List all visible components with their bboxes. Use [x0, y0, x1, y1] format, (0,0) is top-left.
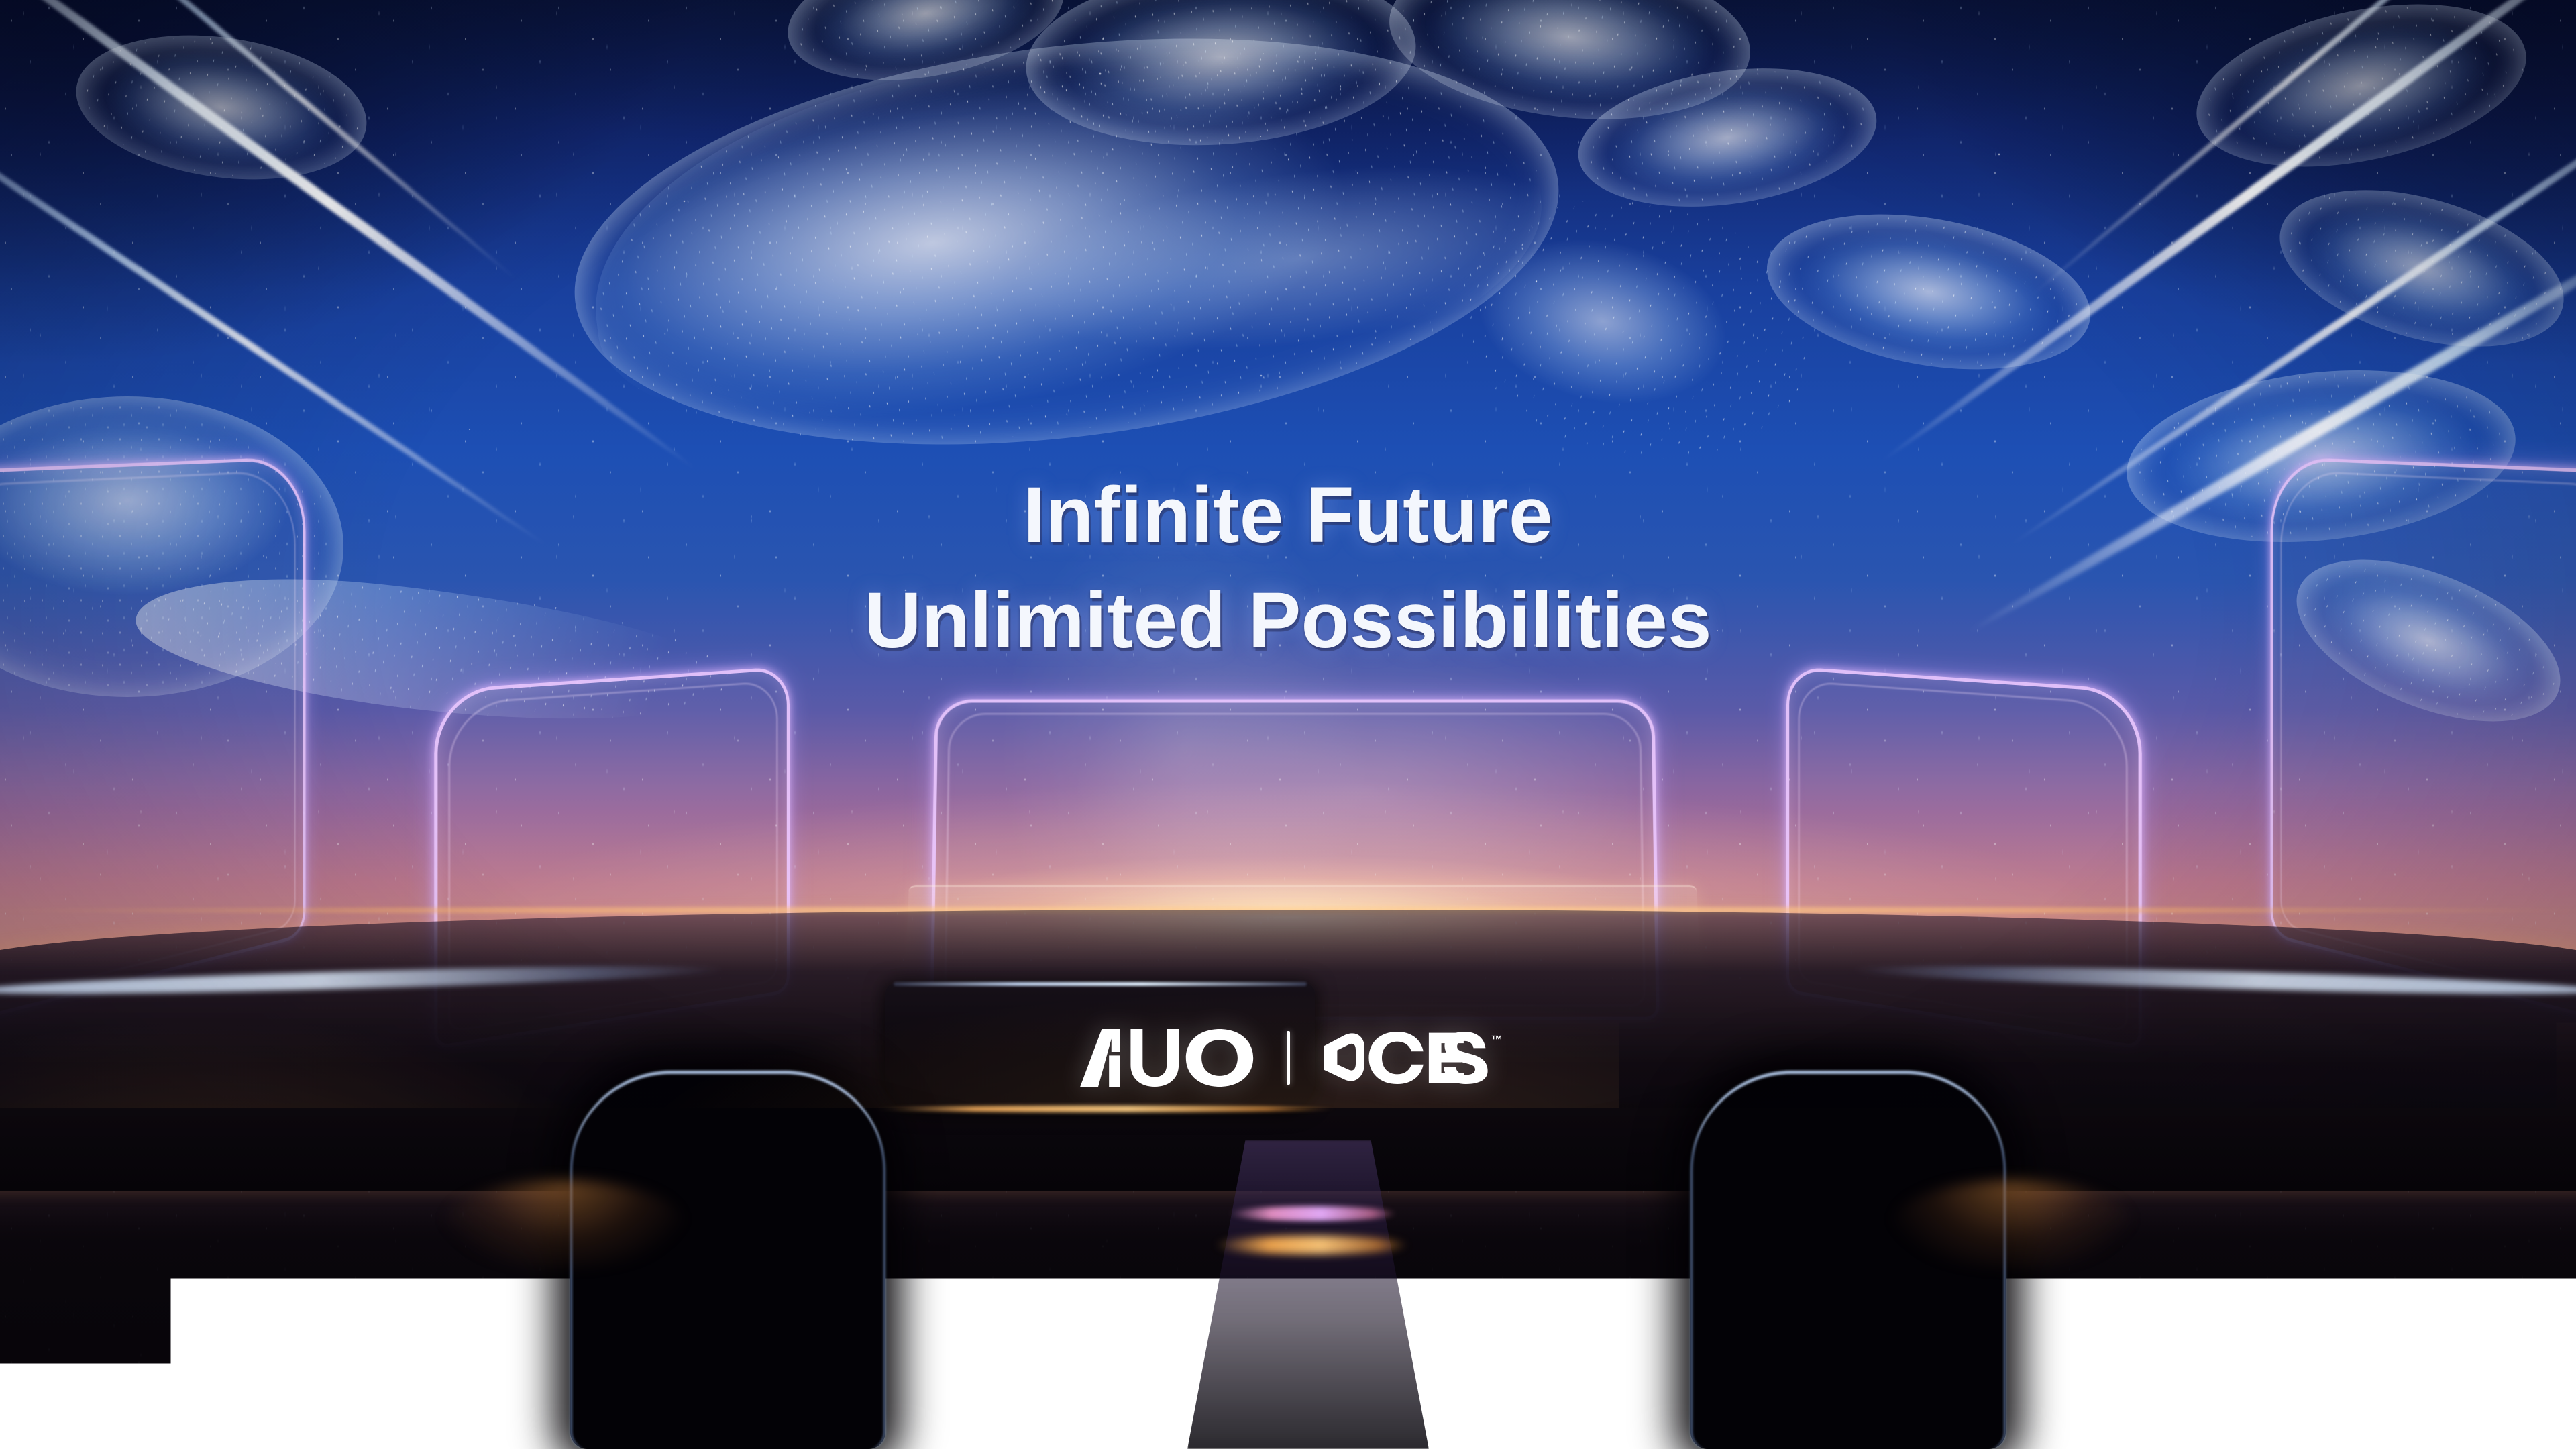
ces-logo: ™ — [1321, 1032, 1501, 1084]
svg-text:™: ™ — [1491, 1033, 1501, 1046]
logo-lockup: ™ — [0, 1029, 2576, 1087]
footer-venue: LVCC - West Hall, Booth # 4400 — [0, 1252, 2576, 1301]
footer-block: LVCC - West Hall, Booth # 4400 January 7… — [0, 1252, 2576, 1352]
auo-logo — [1075, 1029, 1256, 1087]
global-vignette — [0, 0, 2576, 1449]
logo-divider — [1287, 1031, 1290, 1085]
key-visual-canvas: Infinite Future Unlimited Possibilities — [0, 0, 2576, 1449]
footer-dates: January 7-10, 2025 — [0, 1301, 2576, 1351]
